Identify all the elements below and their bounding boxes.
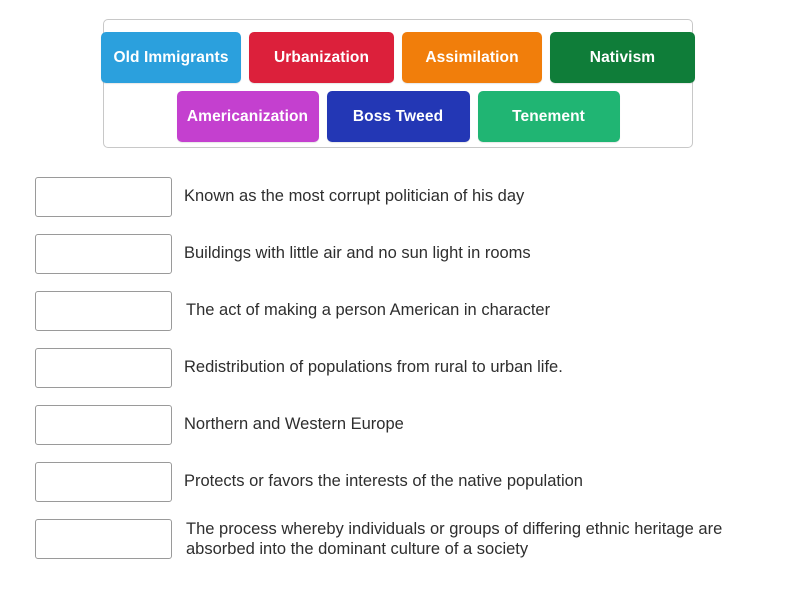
answer-row: The act of making a person American in c… (35, 291, 765, 331)
word-tile-assimilation[interactable]: Assimilation (402, 32, 542, 83)
answer-text: The act of making a person American in c… (186, 300, 550, 321)
word-bank-row-2: AmericanizationBoss TweedTenement (177, 91, 620, 142)
answer-row: The process whereby individuals or group… (35, 519, 765, 559)
drop-zone-5[interactable] (35, 405, 172, 445)
drop-zone-6[interactable] (35, 462, 172, 502)
answer-text: The process whereby individuals or group… (186, 519, 765, 560)
answer-row: Buildings with little air and no sun lig… (35, 234, 765, 274)
answer-row-list: Known as the most corrupt politician of … (35, 177, 765, 576)
word-tile-nativism[interactable]: Nativism (550, 32, 695, 83)
answer-text: Protects or favors the interests of the … (184, 471, 583, 492)
drop-zone-2[interactable] (35, 234, 172, 274)
word-tile-boss-tweed[interactable]: Boss Tweed (327, 91, 470, 142)
answer-row: Known as the most corrupt politician of … (35, 177, 765, 217)
drop-zone-3[interactable] (35, 291, 172, 331)
word-tile-old-immigrants[interactable]: Old Immigrants (101, 32, 241, 83)
drop-zone-4[interactable] (35, 348, 172, 388)
word-tile-americanization[interactable]: Americanization (177, 91, 319, 142)
word-bank-panel: Old ImmigrantsUrbanizationAssimilationNa… (103, 19, 693, 148)
word-tile-tenement[interactable]: Tenement (478, 91, 620, 142)
answer-row: Protects or favors the interests of the … (35, 462, 765, 502)
answer-row: Northern and Western Europe (35, 405, 765, 445)
answer-text: Redistribution of populations from rural… (184, 357, 563, 378)
drop-zone-7[interactable] (35, 519, 172, 559)
answer-row: Redistribution of populations from rural… (35, 348, 765, 388)
drop-zone-1[interactable] (35, 177, 172, 217)
answer-text: Known as the most corrupt politician of … (184, 186, 524, 207)
answer-text: Buildings with little air and no sun lig… (184, 243, 531, 264)
answer-text: Northern and Western Europe (184, 414, 404, 435)
word-bank-row-1: Old ImmigrantsUrbanizationAssimilationNa… (101, 32, 695, 83)
word-tile-urbanization[interactable]: Urbanization (249, 32, 394, 83)
